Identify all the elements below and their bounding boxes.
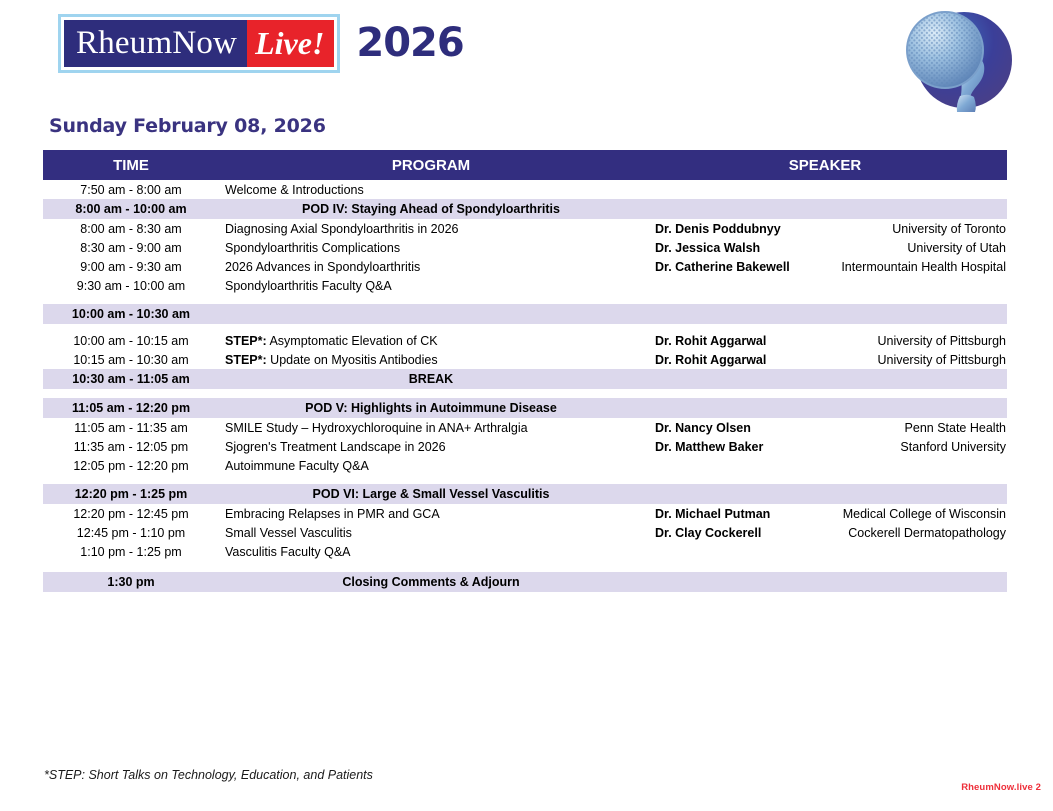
band-time: 12:20 pm - 1:25 pm — [43, 487, 219, 501]
row-speaker: Dr. Clay Cockerell — [643, 526, 833, 540]
row-program-text: Update on Myositis Antibodies — [267, 353, 438, 367]
page-title: Sunday February 08, 2026 — [49, 115, 326, 137]
table-row: 11:05 am - 11:35 am SMILE Study – Hydrox… — [43, 418, 1007, 437]
row-program: Small Vessel Vasculitis — [219, 526, 643, 540]
row-program: 2026 Advances in Spondyloarthritis — [219, 260, 643, 274]
row-time: 9:30 am - 10:00 am — [43, 279, 219, 293]
row-speaker: Dr. Rohit Aggarwal — [643, 334, 833, 348]
row-institution: Penn State Health — [833, 421, 1007, 435]
row-speaker: Dr. Rohit Aggarwal — [643, 353, 833, 367]
row-institution: Medical College of Wisconsin — [833, 507, 1007, 521]
section-band: 10:00 am - 10:30 am — [43, 304, 1007, 324]
table-row: 12:45 pm - 1:10 pm Small Vessel Vasculit… — [43, 523, 1007, 542]
band-title: Closing Comments & Adjourn — [219, 575, 643, 589]
table-row: 10:00 am - 10:15 am STEP*: Asymptomatic … — [43, 331, 1007, 350]
row-speaker: Dr. Matthew Baker — [643, 440, 833, 454]
microphone-icon — [898, 4, 1024, 116]
row-program: Autoimmune Faculty Q&A — [219, 459, 643, 473]
band-time: 8:00 am - 10:00 am — [43, 202, 219, 216]
table-row: 8:30 am - 9:00 am Spondyloarthritis Comp… — [43, 238, 1007, 257]
row-program-prefix: STEP*: — [225, 353, 267, 367]
row-speaker: Dr. Denis Poddubnyy — [643, 222, 833, 236]
row-spacer — [43, 561, 1007, 572]
section-band: 8:00 am - 10:00 am POD IV: Staying Ahead… — [43, 199, 1007, 219]
row-institution: Intermountain Health Hospital — [833, 260, 1007, 274]
row-institution: University of Toronto — [833, 222, 1007, 236]
row-speaker: Dr. Catherine Bakewell — [643, 260, 833, 274]
band-title: POD V: Highlights in Autoimmune Disease — [219, 401, 643, 415]
row-spacer — [43, 389, 1007, 398]
row-program-step: STEP*: Update on Myositis Antibodies — [219, 353, 643, 367]
row-time: 9:00 am - 9:30 am — [43, 260, 219, 274]
row-institution: University of Utah — [833, 241, 1007, 255]
band-title: POD VI: Large & Small Vessel Vasculitis — [219, 487, 643, 501]
table-row: 9:30 am - 10:00 am Spondyloarthritis Fac… — [43, 276, 1007, 295]
table-row: 7:50 am - 8:00 am Welcome & Introduction… — [43, 180, 1007, 199]
band-title: BREAK — [219, 372, 643, 386]
table-row: 10:15 am - 10:30 am STEP*: Update on Myo… — [43, 350, 1007, 369]
row-program: SMILE Study – Hydroxychloroquine in ANA+… — [219, 421, 643, 435]
row-time: 11:05 am - 11:35 am — [43, 421, 219, 435]
logo-inner: RheumNow Live! — [64, 20, 334, 67]
row-time: 8:30 am - 9:00 am — [43, 241, 219, 255]
table-row: 8:00 am - 8:30 am Diagnosing Axial Spond… — [43, 219, 1007, 238]
row-program: Spondyloarthritis Complications — [219, 241, 643, 255]
row-institution: University of Pittsburgh — [833, 334, 1007, 348]
row-program-step: STEP*: Asymptomatic Elevation of CK — [219, 334, 643, 348]
band-time: 10:30 am - 11:05 am — [43, 372, 219, 386]
footnote-step: *STEP: Short Talks on Technology, Educat… — [44, 768, 373, 782]
row-speaker: Dr. Nancy Olsen — [643, 421, 833, 435]
logo-primary-text: RheumNow — [64, 20, 247, 67]
table-row: 12:05 pm - 12:20 pm Autoimmune Faculty Q… — [43, 456, 1007, 475]
row-spacer — [43, 324, 1007, 331]
row-speaker: Dr. Jessica Walsh — [643, 241, 833, 255]
row-time: 10:00 am - 10:15 am — [43, 334, 219, 348]
column-header-time: TIME — [43, 157, 219, 174]
column-header-speaker: SPEAKER — [643, 157, 1007, 174]
section-band: 11:05 am - 12:20 pm POD V: Highlights in… — [43, 398, 1007, 418]
row-spacer — [43, 295, 1007, 304]
brand-logo: RheumNow Live! 2026 — [58, 14, 464, 73]
column-header-program: PROGRAM — [219, 157, 643, 174]
section-band-break: 10:30 am - 11:05 am BREAK — [43, 369, 1007, 389]
row-program: Spondyloarthritis Faculty Q&A — [219, 279, 643, 293]
logo-accent-text: Live! — [247, 20, 334, 67]
band-title: POD IV: Staying Ahead of Spondyloarthrit… — [219, 202, 643, 216]
row-time: 11:35 am - 12:05 pm — [43, 440, 219, 454]
logo-year: 2026 — [356, 17, 463, 70]
row-program: Vasculitis Faculty Q&A — [219, 545, 643, 559]
table-row: 12:20 pm - 12:45 pm Embracing Relapses i… — [43, 504, 1007, 523]
row-time: 8:00 am - 8:30 am — [43, 222, 219, 236]
row-time: 10:15 am - 10:30 am — [43, 353, 219, 367]
row-institution: University of Pittsburgh — [833, 353, 1007, 367]
row-program-prefix: STEP*: — [225, 334, 267, 348]
row-speaker: Dr. Michael Putman — [643, 507, 833, 521]
row-time: 12:05 pm - 12:20 pm — [43, 459, 219, 473]
band-time: 1:30 pm — [43, 575, 219, 589]
row-program: Sjogren's Treatment Landscape in 2026 — [219, 440, 643, 454]
row-program: Welcome & Introductions — [219, 183, 643, 197]
table-row: 9:00 am - 9:30 am 2026 Advances in Spond… — [43, 257, 1007, 276]
row-time: 7:50 am - 8:00 am — [43, 183, 219, 197]
row-time: 12:20 pm - 12:45 pm — [43, 507, 219, 521]
row-institution: Cockerell Dermatopathology — [833, 526, 1007, 540]
band-time: 11:05 am - 12:20 pm — [43, 401, 219, 415]
section-band: 12:20 pm - 1:25 pm POD VI: Large & Small… — [43, 484, 1007, 504]
table-header-row: TIME PROGRAM SPEAKER — [43, 150, 1007, 180]
table-row: 11:35 am - 12:05 pm Sjogren's Treatment … — [43, 437, 1007, 456]
band-time: 10:00 am - 10:30 am — [43, 307, 219, 321]
agenda-table: TIME PROGRAM SPEAKER 7:50 am - 8:00 am W… — [43, 150, 1007, 592]
page-marker: RheumNow.live 2 — [961, 782, 1041, 793]
row-institution: Stanford University — [833, 440, 1007, 454]
row-program: Diagnosing Axial Spondyloarthritis in 20… — [219, 222, 643, 236]
logo-frame: RheumNow Live! — [58, 14, 340, 73]
table-row: 1:10 pm - 1:25 pm Vasculitis Faculty Q&A — [43, 542, 1007, 561]
row-program-text: Asymptomatic Elevation of CK — [267, 334, 438, 348]
section-band-closing: 1:30 pm Closing Comments & Adjourn — [43, 572, 1007, 592]
row-spacer — [43, 475, 1007, 484]
row-program: Embracing Relapses in PMR and GCA — [219, 507, 643, 521]
row-time: 1:10 pm - 1:25 pm — [43, 545, 219, 559]
row-time: 12:45 pm - 1:10 pm — [43, 526, 219, 540]
